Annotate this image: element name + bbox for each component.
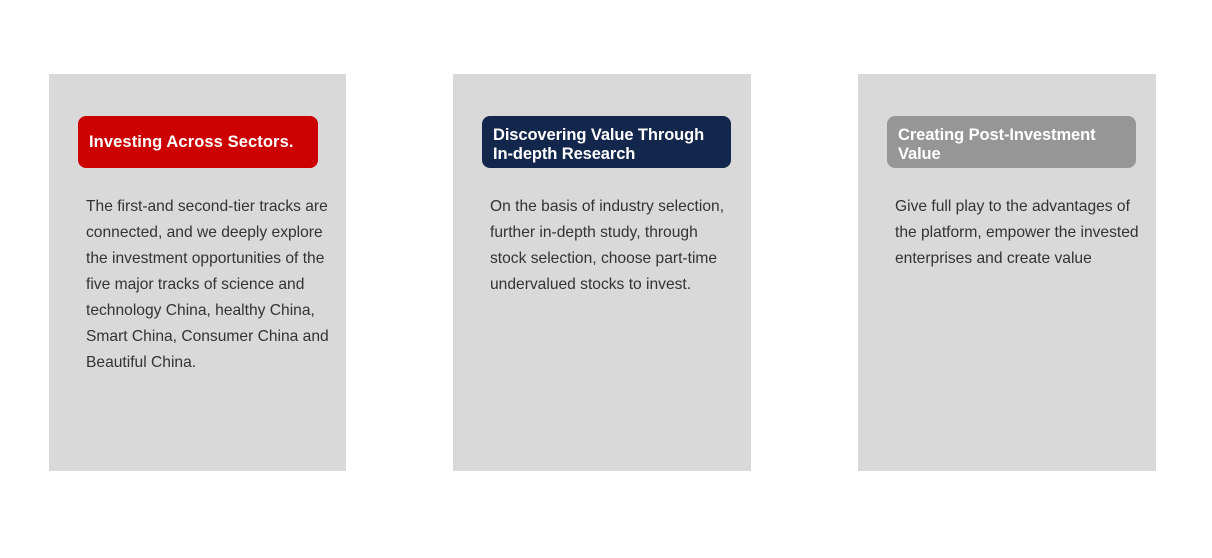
card-body-text: On the basis of industry selection, furt…	[490, 194, 737, 298]
card-title: Investing Across Sectors.	[89, 133, 294, 152]
card-title-badge-discovering-value-through-in-depth-research: Discovering Value Through In-depth Resea…	[482, 116, 731, 168]
card-title: Creating Post-Investment Value	[898, 126, 1125, 164]
feature-card-discovering-value-through-in-depth-research: Discovering Value Through In-depth Resea…	[453, 74, 751, 471]
card-title-badge-investing-across-sectors: Investing Across Sectors.	[78, 116, 318, 168]
card-body-text: The first-and second-tier tracks are con…	[86, 194, 332, 376]
feature-card-creating-post-investment-value: Creating Post-Investment Value Give full…	[858, 74, 1156, 471]
feature-card-investing-across-sectors: Investing Across Sectors. The first-and …	[49, 74, 346, 471]
feature-card-deck: Investing Across Sectors. The first-and …	[0, 0, 1212, 558]
card-title: Discovering Value Through In-depth Resea…	[493, 126, 720, 164]
card-body-text: Give full play to the advantages of the …	[895, 194, 1148, 272]
card-title-badge-creating-post-investment-value: Creating Post-Investment Value	[887, 116, 1136, 168]
